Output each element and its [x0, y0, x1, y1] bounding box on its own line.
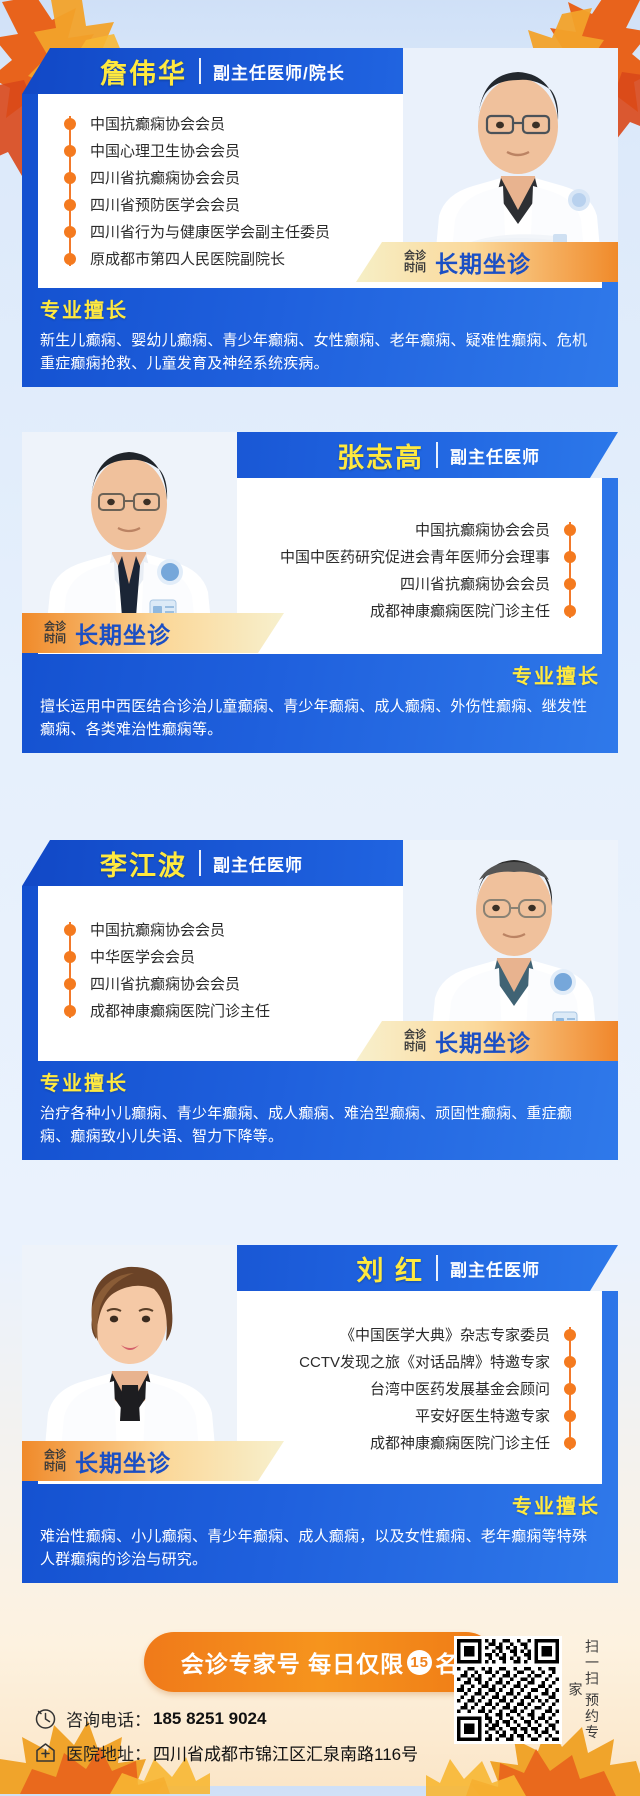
clock-icon: [34, 1707, 57, 1730]
hospital-icon: [34, 1741, 57, 1764]
bullet-dot-icon: [64, 1005, 76, 1017]
bullet-dot-icon: [64, 118, 76, 130]
qr-caption: 扫一扫 预约专家: [574, 1638, 600, 1742]
credential-item: 成都神康癫痫医院门诊主任: [64, 997, 394, 1024]
address-label: 医院地址：: [66, 1740, 151, 1765]
consultation-time-label: 会诊 时间: [44, 621, 66, 645]
credential-text: 中华医学会会员: [90, 946, 195, 967]
bullet-dot-icon: [564, 605, 576, 617]
specialty-section: 专业擅长 擅长运用中西医结合诊治儿童癫痫、青少年癫痫、成人癫痫、外伤性癫痫、继发…: [22, 654, 618, 753]
doctor-name: 刘 红: [356, 1249, 424, 1288]
doctor-card: 李江波 副主任医师 中国抗癫痫协会会员 中华医学会会员: [22, 840, 618, 1160]
doctor-card: 刘 红 副主任医师 《中国医学大典》杂志专家委员 CCTV发现之旅《对话品牌》特…: [22, 1245, 618, 1583]
cta-prefix: 会诊专家号 每日仅限: [181, 1645, 404, 1679]
credential-text: 四川省预防医学会会员: [90, 194, 240, 215]
credential-text: 中国抗癫痫协会会员: [90, 113, 225, 134]
credential-text: 四川省抗癫痫协会会员: [90, 973, 240, 994]
consultation-time-value: 长期坐诊: [435, 245, 531, 279]
bullet-dot-icon: [64, 172, 76, 184]
bullet-dot-icon: [564, 1329, 576, 1341]
name-divider: [436, 1255, 438, 1281]
doctor-title: 副主任医师: [213, 851, 303, 876]
bullet-dot-icon: [564, 578, 576, 590]
credential-text: 台湾中医药发展基金会顾问: [370, 1378, 550, 1399]
name-divider: [199, 850, 201, 876]
name-divider: [199, 58, 201, 84]
bullet-dot-icon: [564, 1410, 576, 1422]
doctor-title: 副主任医师/院长: [213, 59, 345, 84]
specialty-section: 专业擅长 治疗各种小儿癫痫、青少年癫痫、成人癫痫、难治型癫痫、顽固性癫痫、重症癫…: [22, 1061, 618, 1160]
credential-text: 中国心理卫生协会会员: [90, 140, 240, 161]
consultation-time-label: 会诊 时间: [404, 250, 426, 274]
credential-item: 原成都市第四人民医院副院长: [64, 245, 394, 272]
specialty-heading: 专业擅长: [40, 660, 600, 689]
doctor-card-body: 中国抗癫痫协会会员 中国心理卫生协会会员 四川省抗癫痫协会会员 四川省预防医学会…: [22, 94, 618, 387]
bullet-dot-icon: [564, 551, 576, 563]
credentials-list: 中国抗癫痫协会会员 中国心理卫生协会会员 四川省抗癫痫协会会员 四川省预防医学会…: [64, 94, 394, 288]
specialty-heading: 专业擅长: [40, 1490, 600, 1519]
bullet-dot-icon: [64, 978, 76, 990]
specialty-heading: 专业擅长: [40, 294, 600, 323]
bullet-dot-icon: [564, 524, 576, 536]
consultation-time-value: 长期坐诊: [435, 1024, 531, 1058]
bullet-dot-icon: [564, 1356, 576, 1368]
credential-item: 中国抗癫痫协会会员: [216, 516, 576, 543]
consultation-time-label: 会诊 时间: [44, 1449, 66, 1473]
specialty-text: 新生儿癫痫、婴幼儿癫痫、青少年癫痫、女性癫痫、老年癫痫、疑难性癫痫、危机重症癫痫…: [40, 330, 600, 375]
credential-text: 四川省抗癫痫协会会员: [90, 167, 240, 188]
consultation-time-ribbon: 会诊 时间 长期坐诊: [356, 1021, 618, 1061]
doctor-title: 副主任医师: [450, 1256, 540, 1281]
credential-text: 成都神康癫痫医院门诊主任: [370, 1432, 550, 1453]
doctor-name: 詹伟华: [100, 52, 187, 91]
credential-item: 平安好医生特邀专家: [216, 1402, 576, 1429]
appointment-cta-button[interactable]: 会诊专家号 每日仅限 15 名: [144, 1632, 496, 1692]
specialty-text: 难治性癫痫、小儿癫痫、青少年癫痫、成人癫痫，以及女性癫痫、老年癫痫等特殊人群癫痫…: [40, 1526, 600, 1571]
doctor-name: 张志高: [337, 436, 424, 475]
credential-text: 原成都市第四人民医院副院长: [90, 248, 285, 269]
credential-item: 四川省抗癫痫协会会员: [64, 164, 394, 191]
credential-text: 平安好医生特邀专家: [415, 1405, 550, 1426]
cta-text: 会诊专家号 每日仅限 15 名: [181, 1645, 459, 1679]
address-value: 四川省成都市锦江区汇泉南路116号: [153, 1740, 418, 1765]
credential-item: 四川省预防医学会会员: [64, 191, 394, 218]
qr-code[interactable]: [454, 1636, 562, 1744]
consultation-time-ribbon: 会诊 时间 长期坐诊: [22, 1441, 284, 1481]
specialty-text: 擅长运用中西医结合诊治儿童癫痫、青少年癫痫、成人癫痫、外伤性癫痫、继发性癫痫、各…: [40, 696, 600, 741]
credential-item: 中国心理卫生协会会员: [64, 137, 394, 164]
specialty-heading: 专业擅长: [40, 1067, 600, 1096]
credential-item: 中国中医药研究促进会青年医师分会理事: [216, 543, 576, 570]
phone-value: 185 8251 9024: [153, 1709, 266, 1729]
credential-item: 四川省抗癫痫协会会员: [216, 570, 576, 597]
credential-item: 中华医学会会员: [64, 943, 394, 970]
consultation-time-ribbon: 会诊 时间 长期坐诊: [22, 613, 284, 653]
credential-text: 成都神康癫痫医院门诊主任: [370, 600, 550, 621]
doctor-title: 副主任医师: [450, 443, 540, 468]
consultation-time-value: 长期坐诊: [75, 1444, 171, 1478]
bullet-dot-icon: [64, 199, 76, 211]
bullet-dot-icon: [64, 253, 76, 265]
credential-text: 四川省抗癫痫协会会员: [400, 573, 550, 594]
doctor-card: 詹伟华 副主任医师/院长 中国抗癫痫协会会员 中国心理卫生协会会员: [22, 48, 618, 387]
specialty-section: 专业擅长 难治性癫痫、小儿癫痫、青少年癫痫、成人癫痫，以及女性癫痫、老年癫痫等特…: [22, 1484, 618, 1583]
credentials-list: 中国抗癫痫协会会员 中华医学会会员 四川省抗癫痫协会会员 成都神康癫痫医院门诊主…: [64, 886, 394, 1054]
specialty-text: 治疗各种小儿癫痫、青少年癫痫、成人癫痫、难治型癫痫、顽固性癫痫、重症癫痫、癫痫致…: [40, 1103, 600, 1148]
bullet-dot-icon: [64, 951, 76, 963]
phone-label: 咨询电话：: [66, 1706, 151, 1731]
credential-text: CCTV发现之旅《对话品牌》特邀专家: [299, 1351, 550, 1372]
name-divider: [436, 442, 438, 468]
bullet-dot-icon: [564, 1383, 576, 1395]
bullet-dot-icon: [64, 226, 76, 238]
doctor-card-body: 《中国医学大典》杂志专家委员 CCTV发现之旅《对话品牌》特邀专家 台湾中医药发…: [22, 1291, 618, 1583]
bullet-dot-icon: [64, 924, 76, 936]
credential-item: 中国抗癫痫协会会员: [64, 110, 394, 137]
credential-item: 《中国医学大典》杂志专家委员: [216, 1321, 576, 1348]
credential-text: 四川省行为与健康医学会副主任委员: [90, 221, 330, 242]
credential-item: 台湾中医药发展基金会顾问: [216, 1375, 576, 1402]
credential-item: 四川省行为与健康医学会副主任委员: [64, 218, 394, 245]
credential-item: 四川省抗癫痫协会会员: [64, 970, 394, 997]
specialty-section: 专业擅长 新生儿癫痫、婴幼儿癫痫、青少年癫痫、女性癫痫、老年癫痫、疑难性癫痫、危…: [22, 288, 618, 387]
credential-text: 中国中医药研究促进会青年医师分会理事: [280, 546, 550, 567]
bullet-dot-icon: [64, 145, 76, 157]
credential-text: 中国抗癫痫协会会员: [90, 919, 225, 940]
cta-limit-number: 15: [407, 1650, 432, 1675]
credential-item: 中国抗癫痫协会会员: [64, 916, 394, 943]
doctor-name: 李江波: [100, 844, 187, 883]
footer-contact-section: 会诊专家号 每日仅限 15 名 咨询电话： 185 8251 9024: [0, 1632, 640, 1774]
consultation-time-value: 长期坐诊: [75, 616, 171, 650]
consultation-time-ribbon: 会诊 时间 长期坐诊: [356, 242, 618, 282]
credential-text: 《中国医学大典》杂志专家委员: [340, 1324, 550, 1345]
bullet-dot-icon: [564, 1437, 576, 1449]
credential-item: CCTV发现之旅《对话品牌》特邀专家: [216, 1348, 576, 1375]
credential-text: 成都神康癫痫医院门诊主任: [90, 1000, 270, 1021]
consultation-time-label: 会诊 时间: [404, 1029, 426, 1053]
doctor-card: 张志高 副主任医师 中国抗癫痫协会会员 中国中医药研究促进会青年医师分会理事: [22, 432, 618, 753]
doctor-card-body: 中国抗癫痫协会会员 中国中医药研究促进会青年医师分会理事 四川省抗癫痫协会会员 …: [22, 478, 618, 753]
doctor-card-body: 中国抗癫痫协会会员 中华医学会会员 四川省抗癫痫协会会员 成都神康癫痫医院门诊主…: [22, 886, 618, 1160]
credential-text: 中国抗癫痫协会会员: [415, 519, 550, 540]
